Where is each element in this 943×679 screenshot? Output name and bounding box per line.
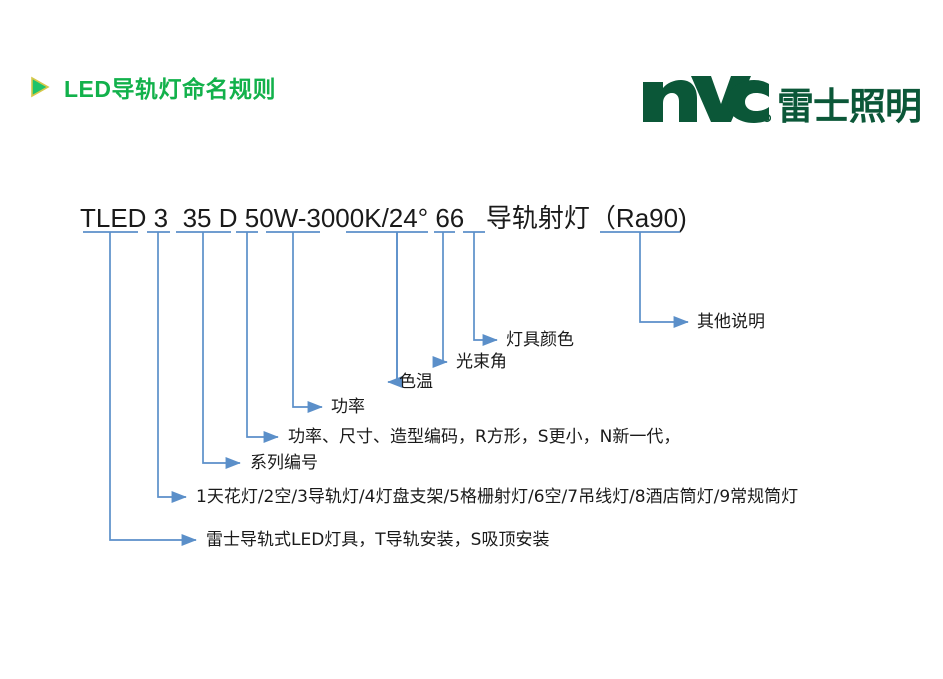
product-code-line: TLED 3 35 D 50W-3000K/24° 66 导轨射灯（Ra90) [80, 198, 687, 235]
callout-label-code: 功率、尺寸、造型编码，R方形，S更小，N新一代， [288, 429, 680, 446]
slide-canvas: LED导轨灯命名规则 雷士照明 TLED 3 35 D 50W-3000K/24… [0, 0, 943, 679]
callout-label-category: 1天花灯/2空/3导轨灯/4灯盘支架/5格栅射灯/6空/7吊线灯/8酒店筒灯/9… [196, 489, 798, 506]
nvc-logo-icon [641, 74, 771, 124]
page-title: LED导轨灯命名规则 [30, 70, 276, 104]
arrow-bullet-icon [30, 76, 50, 98]
callout-label-color: 灯具颜色 [506, 332, 574, 349]
callout-label-prefix: 雷士导轨式LED灯具，T导轨安装，S吸顶安装 [206, 532, 549, 549]
brand-name-cn: 雷士照明 [777, 89, 921, 124]
callout-label-beam-angle: 光束角 [456, 354, 507, 371]
callout-label-cct: 色温 [399, 374, 433, 391]
callout-label-series: 系列编号 [250, 455, 318, 472]
callout-label-power: 功率 [331, 399, 365, 416]
callout-label-other: 其他说明 [697, 314, 765, 331]
page-title-text: LED导轨灯命名规则 [64, 70, 276, 104]
brand-logo: 雷士照明 [641, 74, 921, 124]
